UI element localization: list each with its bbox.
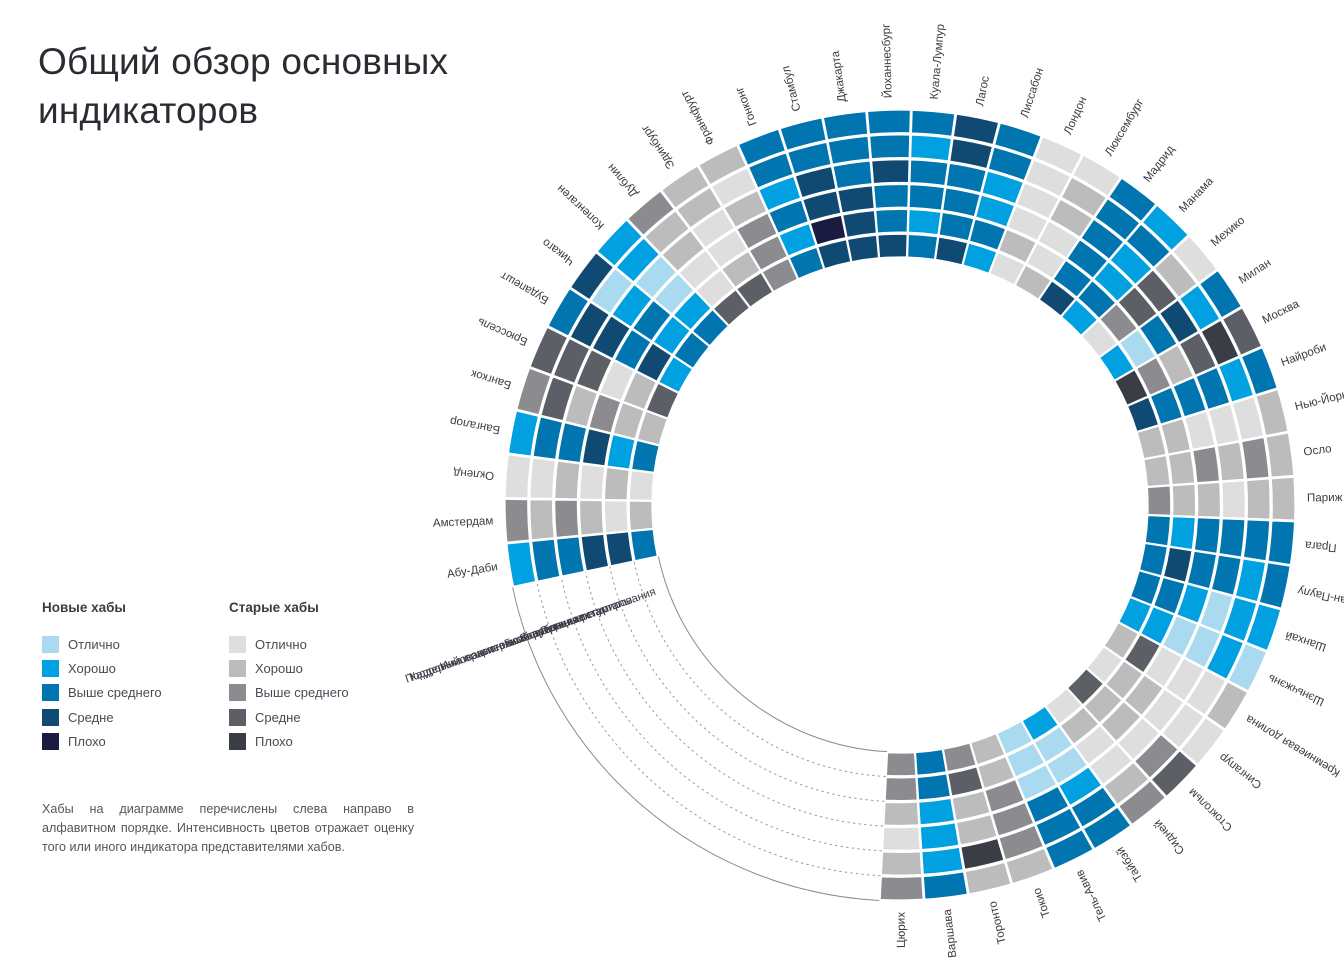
city-label: Гонконг: [733, 85, 760, 128]
heatmap-cell[interactable]: [1219, 519, 1245, 557]
heatmap-cell[interactable]: [580, 464, 605, 499]
heatmap-cell[interactable]: [870, 135, 910, 159]
heatmap-cell[interactable]: [607, 435, 635, 469]
city-label: Варшава: [941, 908, 960, 959]
heatmap-cell[interactable]: [920, 823, 959, 850]
city-label: Осло: [1303, 442, 1333, 459]
heatmap-cell[interactable]: [874, 185, 909, 209]
ring-boundary-arc: [513, 587, 880, 900]
heatmap-cell[interactable]: [939, 212, 974, 240]
heatmap-cell[interactable]: [582, 429, 610, 466]
heatmap-cell[interactable]: [558, 423, 587, 463]
legend-label: Хорошо: [68, 661, 116, 676]
city-label: Кремниевая долина: [1243, 712, 1342, 780]
heatmap-cell[interactable]: [505, 455, 531, 498]
heatmap-cell[interactable]: [1243, 520, 1269, 561]
heatmap-cell[interactable]: [917, 774, 950, 800]
heatmap-cell[interactable]: [818, 240, 851, 269]
city-label: Париж: [1307, 491, 1343, 505]
city-label: Брюссель: [476, 315, 530, 348]
city-label: Тайбэй: [1114, 845, 1146, 884]
legend-swatch-new-4: [42, 709, 59, 726]
heatmap-cell[interactable]: [881, 852, 921, 875]
city-label: Эдинбург: [639, 122, 678, 171]
ring-separator-arc: [586, 572, 884, 826]
legend-label: Средне: [255, 710, 301, 725]
heatmap-cell[interactable]: [1268, 521, 1295, 565]
city-label: Шанхай: [1284, 628, 1328, 654]
heatmap-cell[interactable]: [505, 499, 529, 542]
city-label: Шэньчжэнь: [1266, 671, 1326, 708]
legend-new-title: Новые хабы: [42, 600, 185, 615]
heatmap-cell[interactable]: [946, 163, 986, 192]
heatmap-cell[interactable]: [916, 749, 947, 775]
legend-item-old-2: Хорошо: [229, 656, 372, 680]
heatmap-cell[interactable]: [555, 500, 579, 537]
heatmap-cell[interactable]: [530, 500, 554, 540]
heatmap-cell[interactable]: [1137, 426, 1166, 459]
legend-label: Выше среднего: [68, 685, 162, 700]
heatmap-cell[interactable]: [1144, 456, 1170, 487]
city-label: Стамбул: [779, 64, 803, 112]
legend-label: Средне: [68, 710, 114, 725]
ring-separator-arc: [537, 582, 881, 875]
legend-item-new-1: Отлично: [42, 632, 185, 656]
heatmap-cell[interactable]: [884, 802, 919, 825]
legend-swatch-new-3: [42, 684, 59, 701]
heatmap-cell[interactable]: [908, 234, 938, 259]
heatmap-cell[interactable]: [923, 872, 967, 899]
legend-swatch-old-2: [229, 660, 246, 677]
heatmap-cell[interactable]: [1266, 433, 1294, 477]
city-label: Москва: [1260, 297, 1302, 327]
city-label: Манама: [1176, 174, 1216, 215]
city-label: Копенгаген: [554, 182, 606, 232]
chart-page: Общий обзор основных индикаторов Абу-Даб…: [0, 0, 1344, 974]
legend-swatch-old-4: [229, 709, 246, 726]
legend-label: Плохо: [68, 734, 106, 749]
legend-swatch-old-1: [229, 636, 246, 653]
heatmap-cell[interactable]: [604, 467, 629, 499]
legend-item-new-5: Плохо: [42, 730, 185, 754]
city-label: Сан-Паулу: [1296, 584, 1344, 609]
heatmap-cell[interactable]: [828, 136, 870, 164]
footnote: Хабы на диаграмме перечислены слева напр…: [42, 800, 414, 857]
city-label: Нью-Йорк: [1293, 388, 1344, 414]
heatmap-cell[interactable]: [1170, 517, 1195, 550]
heatmap-cell[interactable]: [885, 777, 917, 800]
heatmap-cell[interactable]: [943, 743, 976, 771]
ring-separator-arc: [610, 567, 885, 802]
city-label: Будапешт: [498, 269, 551, 307]
heatmap-cell[interactable]: [911, 110, 954, 136]
heatmap-cell[interactable]: [532, 539, 560, 581]
heatmap-cell[interactable]: [1168, 451, 1194, 484]
heatmap-cell[interactable]: [868, 110, 911, 134]
legend-swatch-new-1: [42, 636, 59, 653]
city-label: Франкфурт: [678, 88, 717, 148]
ring-separator-arc: [634, 562, 886, 777]
heatmap-cell[interactable]: [910, 160, 948, 186]
legend-swatch-new-5: [42, 733, 59, 750]
city-label: Окленд: [453, 466, 495, 482]
heatmap-cell[interactable]: [1187, 551, 1216, 588]
legend-item-new-2: Хорошо: [42, 656, 185, 680]
heatmap-cell[interactable]: [908, 210, 941, 235]
heatmap-cell[interactable]: [919, 798, 955, 824]
legend-item-new-4: Средне: [42, 705, 185, 729]
legend-swatch-new-2: [42, 660, 59, 677]
legend-item-old-5: Плохо: [229, 730, 372, 754]
heatmap-cell[interactable]: [847, 235, 878, 261]
city-label: Цюрих: [895, 912, 908, 948]
city-label: Дублин: [605, 161, 641, 200]
heatmap-cell[interactable]: [911, 135, 952, 161]
city-label: Токио: [1030, 886, 1053, 919]
heatmap-cell[interactable]: [843, 211, 877, 238]
heatmap-cell[interactable]: [883, 827, 920, 850]
city-label: Сингапур: [1217, 750, 1264, 791]
city-label: Лагос: [973, 75, 992, 107]
city-label: Лондон: [1061, 95, 1089, 137]
heatmap-cell[interactable]: [629, 471, 654, 501]
city-label: Милан: [1236, 256, 1273, 286]
heatmap-cell[interactable]: [556, 537, 584, 576]
legend-label: Отлично: [68, 637, 120, 652]
heatmap-cell[interactable]: [823, 112, 867, 140]
legend-swatch-old-5: [229, 733, 246, 750]
heatmap-cell[interactable]: [948, 767, 983, 796]
heatmap-cell[interactable]: [1193, 447, 1220, 483]
heatmap-cell[interactable]: [606, 532, 633, 566]
city-label: Торонто: [986, 900, 1009, 945]
heatmap-cell[interactable]: [936, 237, 968, 265]
ring-boundary-arc: [658, 556, 887, 751]
heatmap-cell[interactable]: [1242, 438, 1269, 479]
heatmap-cell[interactable]: [1217, 442, 1244, 481]
heatmap-cell[interactable]: [1163, 547, 1192, 582]
heatmap-cell[interactable]: [632, 441, 659, 473]
city-label: Йоханнесбург: [880, 23, 895, 98]
heatmap-cell[interactable]: [581, 534, 608, 571]
city-label: Тель-Авив: [1073, 868, 1109, 924]
legend: Новые хабы ОтличноХорошоВыше среднегоСре…: [42, 600, 372, 754]
heatmap-cell[interactable]: [604, 501, 628, 533]
legend-old-hubs: Старые хабы ОтличноХорошоВыше среднегоСр…: [229, 600, 372, 754]
city-label: Мехико: [1208, 214, 1247, 250]
city-label: Бангалор: [449, 414, 501, 436]
heatmap-cell[interactable]: [880, 877, 923, 900]
legend-label: Отлично: [255, 637, 307, 652]
city-label: Прага: [1304, 538, 1337, 554]
legend-old-title: Старые хабы: [229, 600, 372, 615]
city-label: Лиссабон: [1018, 66, 1046, 119]
heatmap-cell[interactable]: [909, 185, 944, 210]
heatmap-cell[interactable]: [1271, 477, 1295, 520]
city-label: Амстердам: [433, 514, 494, 529]
heatmap-cell[interactable]: [833, 161, 872, 188]
legend-label: Плохо: [255, 734, 293, 749]
city-label: Куала-Лумпур: [928, 23, 947, 100]
ring-label: Органы регулирования: [538, 586, 657, 638]
heatmap-cell[interactable]: [876, 209, 908, 233]
legend-item-old-4: Средне: [229, 705, 372, 729]
heatmap-cell[interactable]: [580, 500, 604, 535]
heatmap-cell[interactable]: [507, 542, 536, 587]
legend-item-old-3: Выше среднего: [229, 681, 372, 705]
heatmap-cell[interactable]: [1247, 479, 1270, 519]
heatmap-cell[interactable]: [631, 529, 658, 560]
heatmap-cell[interactable]: [872, 160, 909, 184]
heatmap-cell[interactable]: [943, 188, 980, 217]
city-label: Джакарта: [829, 50, 849, 104]
city-label: Бангкок: [469, 367, 513, 392]
ring-label-group: Поддержка правительстваИнновационность с…: [404, 556, 887, 900]
legend-swatch-old-3: [229, 684, 246, 701]
heatmap-cell[interactable]: [1197, 482, 1220, 517]
heatmap-cell[interactable]: [1194, 518, 1220, 554]
heatmap-cell[interactable]: [530, 458, 555, 498]
heatmap-cell[interactable]: [629, 501, 653, 530]
heatmap-cell[interactable]: [886, 753, 915, 776]
city-label: Сидней: [1151, 817, 1187, 857]
legend-label: Хорошо: [255, 661, 303, 676]
heatmap-cell[interactable]: [878, 234, 907, 257]
city-label: Люксембург: [1102, 97, 1146, 159]
city-label: Стокгольм: [1186, 786, 1235, 835]
heatmap-cell[interactable]: [1172, 484, 1195, 516]
heatmap-cell[interactable]: [1147, 486, 1170, 515]
city-label: Мадрид: [1141, 143, 1177, 185]
heatmap-cell[interactable]: [922, 847, 963, 874]
city-label: Найроби: [1279, 340, 1328, 369]
heatmap-cell[interactable]: [1139, 543, 1167, 575]
heatmap-cell[interactable]: [1222, 481, 1245, 518]
legend-item-new-3: Выше среднего: [42, 681, 185, 705]
ring-separator-arc: [561, 577, 882, 851]
legend-new-hubs: Новые хабы ОтличноХорошоВыше среднегоСре…: [42, 600, 185, 754]
heatmap-cell[interactable]: [555, 461, 580, 499]
legend-item-old-1: Отлично: [229, 632, 372, 656]
legend-label: Выше среднего: [255, 685, 349, 700]
heatmap-cell[interactable]: [533, 417, 562, 459]
heatmap-cell[interactable]: [838, 186, 874, 213]
heatmap-cell[interactable]: [1145, 516, 1170, 546]
city-label: Чикаго: [540, 236, 577, 268]
city-label: Абу-Даби: [446, 560, 499, 581]
